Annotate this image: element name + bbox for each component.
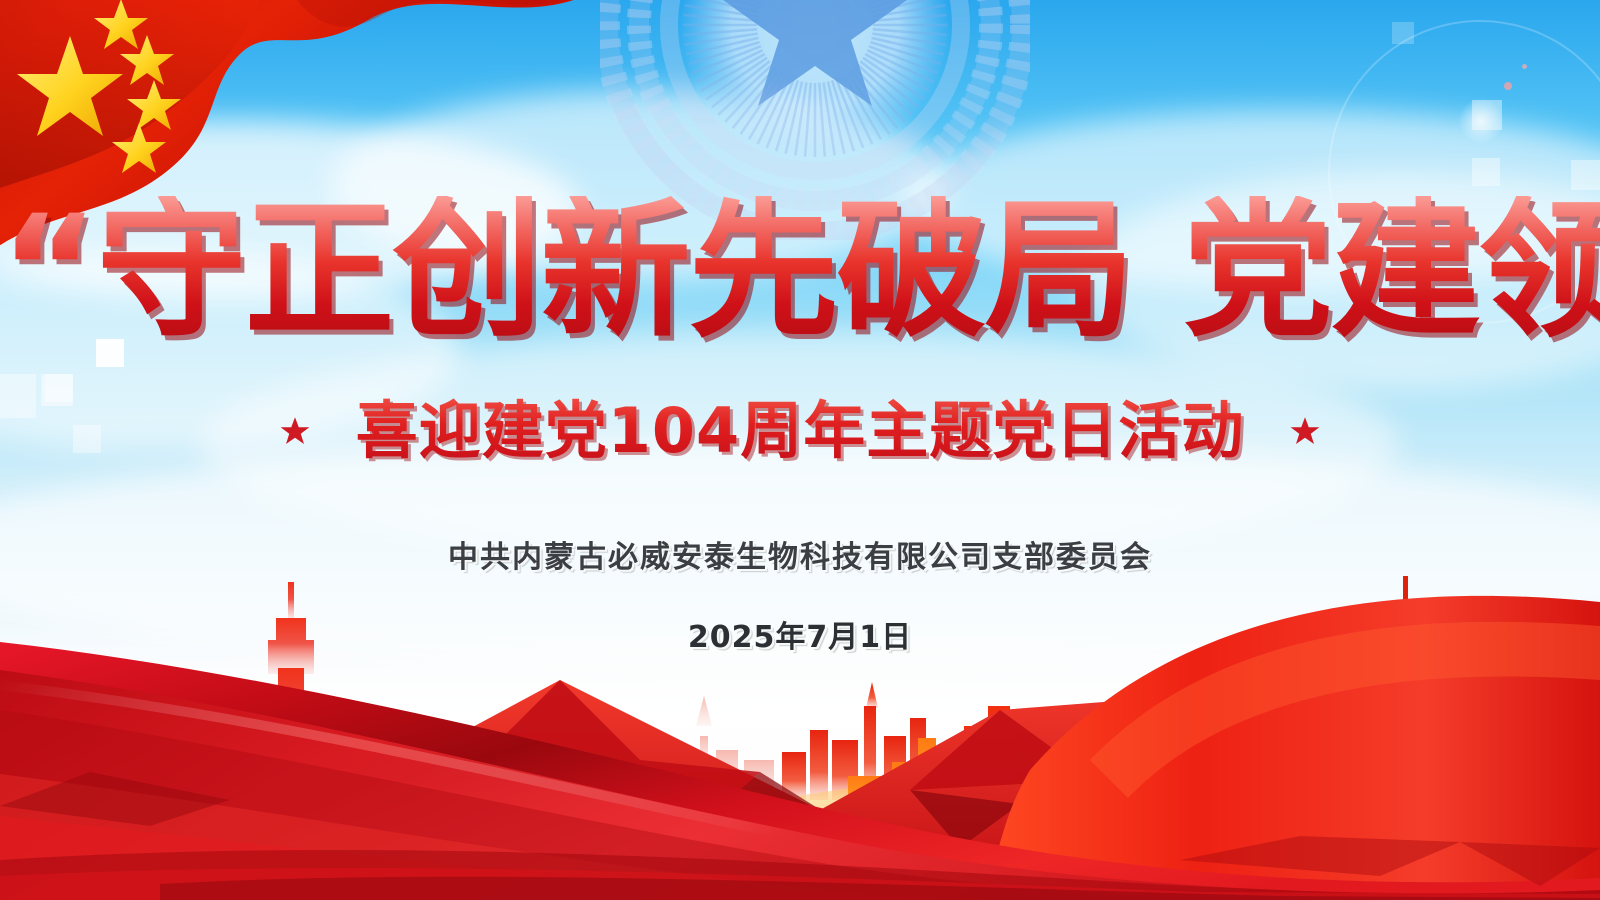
main-title: “守正创新先破局 党建领航向阳生” [0, 196, 1600, 346]
event-date: 2025年7月1日 [0, 618, 1600, 658]
subtitle-row: 喜迎建党104周年主题党日活动 [0, 398, 1600, 464]
poster-canvas: “守正创新先破局 党建领航向阳生” 喜迎建党104周年主题党日活动 中共内蒙古必… [0, 0, 1600, 900]
star-right-icon [1290, 416, 1320, 446]
text-layer: “守正创新先破局 党建领航向阳生” 喜迎建党104周年主题党日活动 中共内蒙古必… [0, 0, 1600, 900]
star-left-icon [280, 416, 310, 446]
organization-name: 中共内蒙古必威安泰生物科技有限公司支部委员会 [0, 538, 1600, 578]
subtitle: 喜迎建党104周年主题党日活动 [356, 398, 1244, 464]
